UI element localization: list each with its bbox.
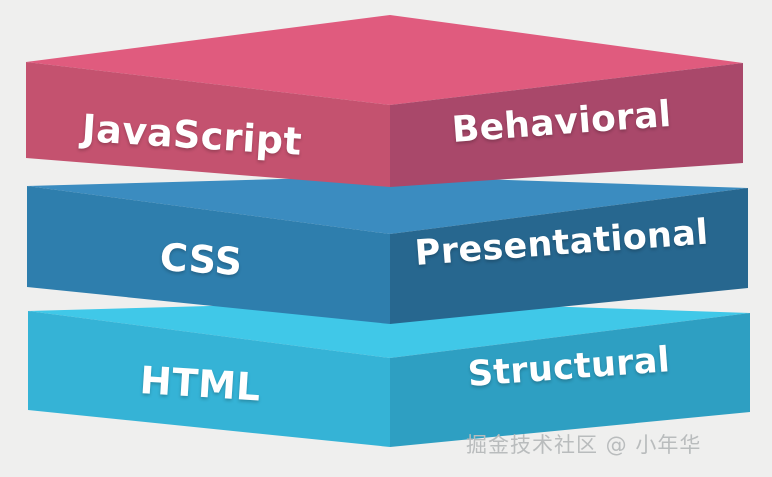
watermark-text: 掘金技术社区 @ 小年华 <box>466 429 701 459</box>
diagram-canvas: JavaScript Behavioral CSS Presentational… <box>0 0 772 477</box>
presentational-layer-left-label: CSS <box>159 235 244 284</box>
structural-layer-left-label: HTML <box>139 358 262 410</box>
